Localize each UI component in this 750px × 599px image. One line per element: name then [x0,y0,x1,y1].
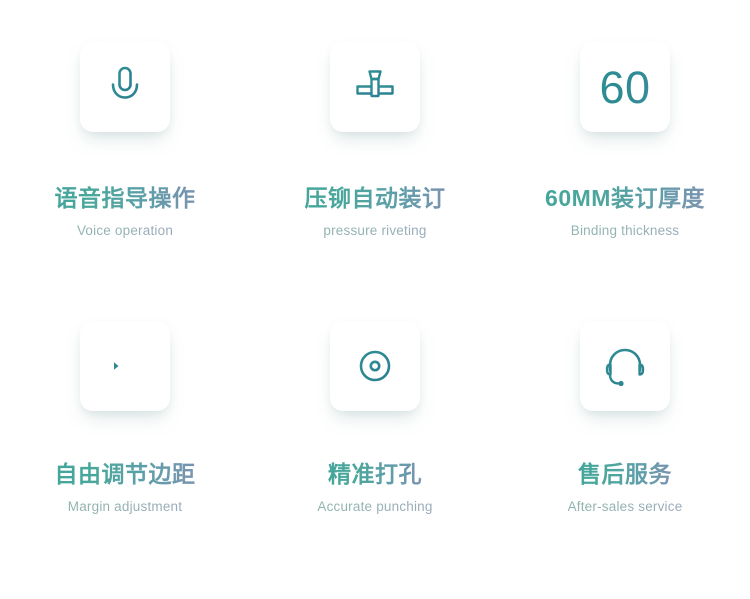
margin-adjust-icon [99,340,151,392]
feature-subtitle: After-sales service [568,499,683,515]
headset-icon [599,340,651,392]
feature-card-margin-adjustment[interactable]: 自由调节边距 Margin adjustment [0,321,250,516]
feature-grid: 语音指导操作 Voice operation [0,0,750,599]
feature-card-accurate-punching[interactable]: 精准打孔 Accurate punching [250,321,500,516]
icon-tile [580,321,670,411]
microphone-icon [99,61,151,113]
feature-subtitle: Voice operation [77,223,173,239]
feature-title: 压铆自动装订 [305,185,446,211]
feature-subtitle: Accurate punching [317,499,432,515]
feature-card-binding-thickness[interactable]: 60 60MM装订厚度 Binding thickness [500,42,750,240]
crosshair-target-icon [349,340,401,392]
feature-subtitle: pressure riveting [323,223,426,239]
icon-tile [330,321,420,411]
feature-title: 60MM装订厚度 [545,185,705,211]
icon-tile [80,321,170,411]
feature-card-pressure-riveting[interactable]: 压铆自动装订 pressure riveting [250,42,500,240]
icon-tile [80,42,170,132]
feature-subtitle: Binding thickness [571,223,679,239]
feature-title: 自由调节边距 [55,461,196,487]
icon-tile: 60 [580,42,670,132]
feature-card-after-sales-service[interactable]: 售后服务 After-sales service [500,321,750,516]
feature-subtitle: Margin adjustment [68,499,182,515]
feature-card-voice-operation[interactable]: 语音指导操作 Voice operation [0,42,250,240]
number-60-icon: 60 [599,65,650,110]
feature-title: 精准打孔 [328,461,422,487]
feature-title: 语音指导操作 [55,185,196,211]
feature-title: 售后服务 [578,461,672,487]
press-rivet-icon [348,60,402,114]
icon-tile [330,42,420,132]
